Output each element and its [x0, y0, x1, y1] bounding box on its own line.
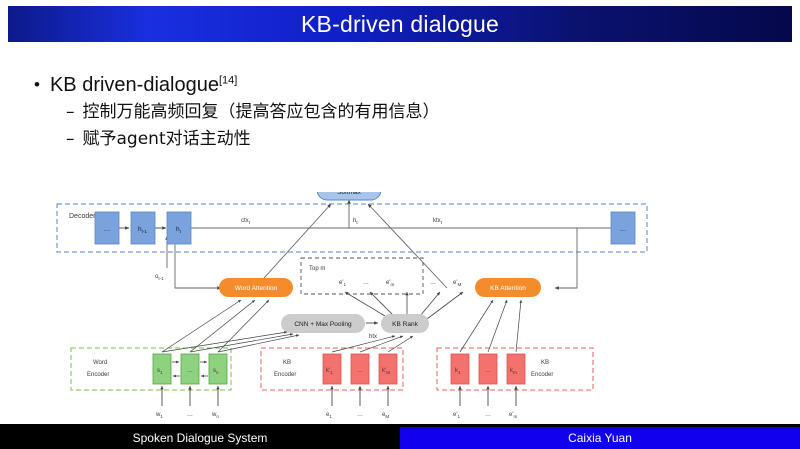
word-attention-label: Word Attention [235, 285, 278, 292]
decoder-cell-0-label: … [104, 226, 111, 233]
word-encoder-panel-border [71, 348, 231, 390]
kb-target-input-1: … [485, 412, 491, 418]
topm-outside-0: … [430, 280, 436, 286]
footer-left: Spoken Dialogue System [0, 427, 400, 449]
htx-label: htx [369, 334, 377, 340]
topm-item-0: e'1 [339, 280, 346, 287]
kb-target-cell-0-label: k1 [455, 368, 461, 375]
decoder-cell-1 [131, 212, 155, 244]
kb-related-input-2: eM [382, 412, 389, 419]
dash-marker-icon: – [66, 103, 75, 123]
word-cell-2 [209, 354, 227, 384]
kb-target-label-line1: KB [541, 360, 549, 366]
bullet-level2-text-2: 赋予agent对话主动性 [83, 130, 251, 150]
bullet-level2-item-1: – 控制万能高频回复（提高答应包含的有用信息） [66, 103, 554, 123]
topm-item-1: … [363, 280, 369, 286]
bullet-level2-text-1: 控制万能高频回复（提高答应包含的有用信息） [83, 103, 440, 123]
dash-marker-icon: – [66, 130, 75, 150]
ctx-label: ctxt [241, 218, 251, 225]
kb-target-cell-2-label: km [510, 368, 517, 375]
word-cell-0-label: s1 [157, 368, 163, 375]
kb-related-label-line1: KB [283, 360, 291, 366]
kb-encoder-target-cells: k1 … km [451, 354, 525, 384]
citation-superscript: [14] [219, 74, 237, 86]
decoder-panel-label: Decoder [69, 213, 96, 220]
kb-related-input-0: e1 [326, 412, 332, 419]
topm-item-2: e'm [386, 280, 394, 287]
footer-right: Caixia Yuan [400, 427, 800, 449]
kb-target-input-2: e'm [509, 412, 517, 419]
bullet-level1-text: KB driven-dialogue[14] [50, 74, 237, 96]
kb-related-cell-2-label: k'M [382, 368, 390, 375]
word-cell-0 [153, 354, 171, 384]
word-cell-2-label: sn [213, 368, 219, 375]
kb-encoder-related-cells: k'1 … k'M [323, 354, 397, 384]
word-encoder-cells: s1 … sn [153, 354, 227, 384]
bullet-level1: • KB driven-dialogue[14] [34, 74, 554, 96]
topm-title: Top m [309, 266, 325, 272]
word-encoder-label-line1: Word [93, 360, 107, 366]
slide-footer: Spoken Dialogue System Caixia Yuan [0, 427, 800, 449]
word-input-0: w1 [155, 412, 163, 419]
bullet-list: • KB driven-dialogue[14] – 控制万能高频回复（提高答应… [34, 74, 554, 149]
kb-related-cell-0-label: k'1 [326, 368, 333, 375]
word-input-1: … [187, 412, 193, 418]
slide-title-bar: KB-driven dialogue [8, 6, 792, 42]
decoder-cell-3-label: … [620, 226, 627, 233]
kb-target-cell-1-label: … [485, 368, 491, 374]
bullet-marker-icon: • [34, 74, 40, 95]
kb-rank-label: KB Rank [392, 321, 418, 328]
kb-related-cell-1-label: … [357, 368, 363, 374]
kb-related-input-1: … [357, 412, 363, 418]
cnn-max-pooling-label: CNN + Max Pooling [294, 321, 352, 328]
word-cell-1-label: … [187, 368, 193, 374]
ht-label: ht [353, 218, 358, 225]
word-encoder-label-line2: Encoder [87, 372, 109, 378]
bullet-level2-item-2: – 赋予agent对话主动性 [66, 130, 554, 150]
left-white-strip [0, 0, 8, 427]
footer-left-text: Spoken Dialogue System [133, 431, 268, 445]
kb-target-label-line2: Encoder [531, 372, 553, 378]
word-input-2: wn [211, 412, 219, 419]
softmax-label: Softmax [337, 192, 362, 196]
kb-target-input-0: e'1 [453, 412, 460, 419]
kb-related-label-line2: Encoder [274, 372, 296, 378]
kb-target-cell-0 [451, 354, 469, 384]
footer-right-text: Caixia Yuan [568, 431, 632, 445]
kb-attention-label: KB Attention [490, 285, 526, 292]
slide-canvas: KB-driven dialogue • KB driven-dialogue[… [0, 0, 800, 449]
topm-outside-1: e'M [453, 280, 461, 287]
page-title: KB-driven dialogue [301, 11, 499, 38]
decoder-input-label: ot-1 [155, 274, 164, 281]
ktx-label: ktxt [433, 218, 443, 225]
kb-dialogue-architecture-diagram: Decoder … ht-1 ht … ot-1 Softmax ot ctxt… [55, 192, 665, 424]
topm-panel-border [301, 258, 423, 294]
